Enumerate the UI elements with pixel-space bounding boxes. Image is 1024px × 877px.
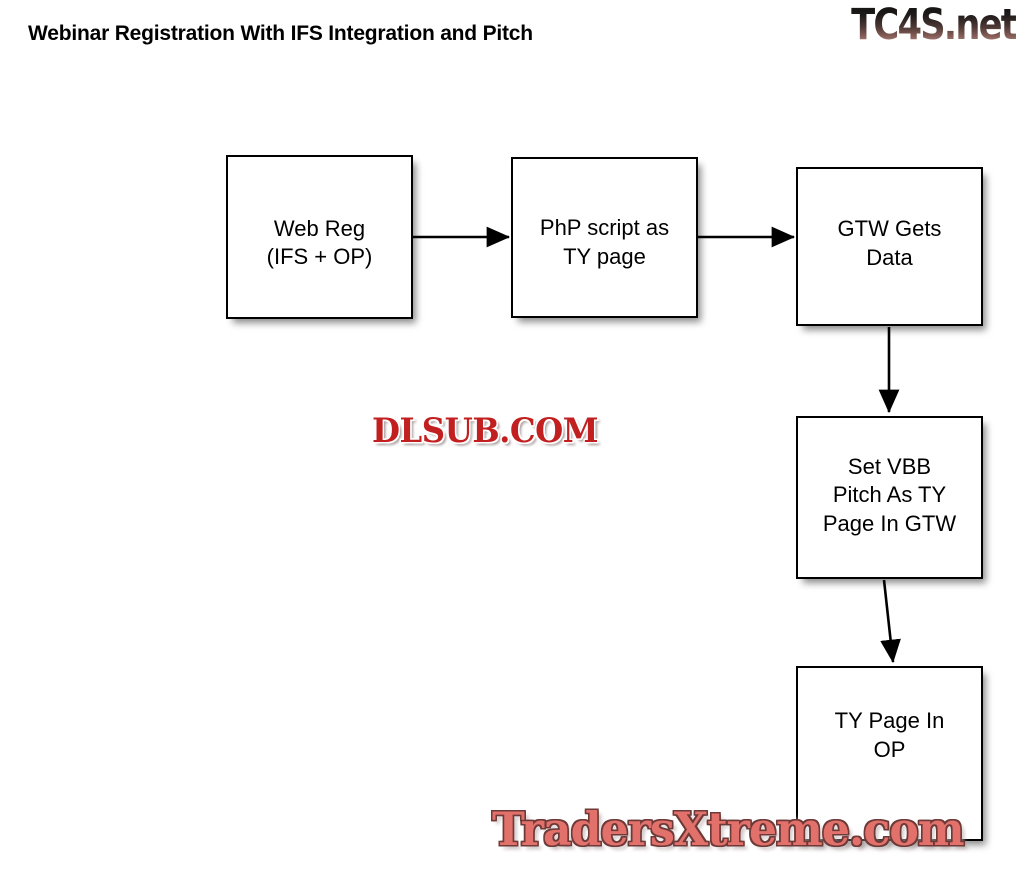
diagram-canvas: Webinar Registration With IFS Integratio… (0, 0, 1024, 877)
flow-node-set-vbb-pitch-label: Set VBB Pitch As TY Page In GTW (817, 453, 962, 537)
watermark-dlsub: DLSUB.COM (372, 414, 598, 448)
tc4s-brand-logo: TC4S.net (851, 4, 1016, 47)
connector-set-vbb-pitch-to-ty-page-in-op (884, 580, 893, 662)
flow-node-php-script-label: PhP script as TY page (534, 214, 675, 270)
flow-node-set-vbb-pitch[interactable]: Set VBB Pitch As TY Page In GTW (796, 416, 983, 579)
watermark-tradersxtreme: TradersXtreme.com (492, 806, 964, 852)
flow-node-php-script[interactable]: PhP script as TY page (511, 157, 698, 318)
flow-node-web-reg[interactable]: Web Reg (IFS + OP) (226, 155, 413, 319)
page-title: Webinar Registration With IFS Integratio… (28, 22, 533, 46)
flow-node-ty-page-in-op-label: TY Page In OP (829, 707, 951, 763)
flow-node-gtw-gets-data[interactable]: GTW Gets Data (796, 167, 983, 326)
flow-node-gtw-gets-data-label: GTW Gets Data (832, 215, 948, 271)
flow-node-web-reg-label: Web Reg (IFS + OP) (261, 215, 379, 271)
